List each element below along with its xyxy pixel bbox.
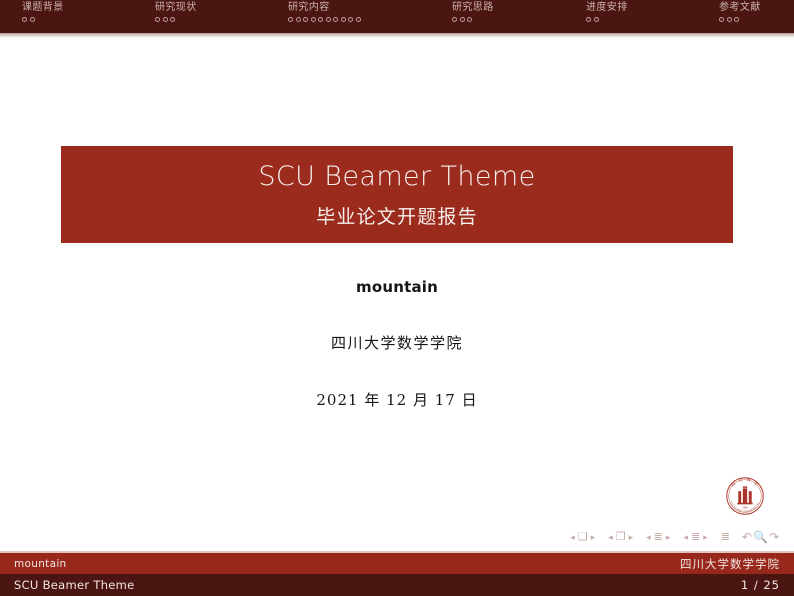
header-navigation-bar: 课题背景 研究现状 研究内容 研究思路 进度安排 参考文献 bbox=[0, 0, 794, 33]
presentation-date: 2021 年 12 月 17 日 bbox=[0, 389, 794, 410]
search-icon[interactable]: 🔍 bbox=[753, 531, 769, 543]
nav-slide-dot[interactable] bbox=[311, 17, 316, 22]
nav-slide-dot[interactable] bbox=[460, 17, 465, 22]
nav-slide-dot[interactable] bbox=[341, 17, 346, 22]
next-subsection-icon[interactable]: ▸ bbox=[666, 533, 671, 542]
nav-section-group[interactable]: ◂ ≣ ▸ bbox=[683, 532, 707, 543]
forward-icon[interactable]: ↷ bbox=[769, 531, 780, 543]
next-slide-icon[interactable]: ▸ bbox=[591, 533, 596, 542]
nav-slide-dot[interactable] bbox=[452, 17, 457, 22]
nav-section-dots[interactable] bbox=[452, 17, 494, 22]
frame-icon[interactable]: ❒ bbox=[616, 532, 626, 543]
footer-upper-bar: mountain 四川大学数学学院 bbox=[0, 553, 794, 574]
nav-slide-dot[interactable] bbox=[356, 17, 361, 22]
author-name: mountain bbox=[0, 278, 794, 296]
nav-slide-group[interactable]: ◂ ❑ ▸ bbox=[570, 532, 595, 543]
nav-section-dots[interactable] bbox=[288, 17, 361, 22]
footer-page-number: 1 / 25 bbox=[741, 578, 780, 592]
nav-slide-dot[interactable] bbox=[719, 17, 724, 22]
nav-section-4[interactable]: 进度安排 bbox=[586, 3, 628, 22]
nav-section-dots[interactable] bbox=[22, 17, 64, 22]
nav-slide-dot[interactable] bbox=[22, 17, 27, 22]
nav-slide-dot[interactable] bbox=[727, 17, 732, 22]
nav-section-label: 参考文献 bbox=[719, 3, 761, 13]
nav-subsection-group[interactable]: ◂ ≣ ▸ bbox=[646, 532, 670, 543]
footer-lower-bar: SCU Beamer Theme 1 / 25 bbox=[0, 574, 794, 596]
nav-slide-dot[interactable] bbox=[318, 17, 323, 22]
header-shadow-divider bbox=[0, 33, 794, 38]
next-section-icon[interactable]: ▸ bbox=[703, 533, 708, 542]
footer-institute: 四川大学数学学院 bbox=[680, 556, 780, 572]
subsection-icon[interactable]: ≣ bbox=[654, 532, 663, 543]
nav-slide-dot[interactable] bbox=[170, 17, 175, 22]
nav-section-label: 研究现状 bbox=[155, 3, 197, 13]
beamer-navigation-symbols[interactable]: ◂ ❑ ▸ ◂ ❒ ▸ ◂ ≣ ▸ ◂ ≣ ▸ ≣ ↶ 🔍 ↷ bbox=[508, 529, 780, 545]
footer-author: mountain bbox=[14, 558, 680, 570]
svg-text:四 川 大 学: 四 川 大 学 bbox=[730, 476, 761, 488]
nav-slide-dot[interactable] bbox=[333, 17, 338, 22]
nav-slide-dot[interactable] bbox=[30, 17, 35, 22]
institute-name: 四川大学数学学院 bbox=[0, 332, 794, 353]
next-frame-icon[interactable]: ▸ bbox=[629, 533, 634, 542]
presentation-icon[interactable]: ≣ bbox=[721, 532, 730, 543]
prev-subsection-icon[interactable]: ◂ bbox=[646, 533, 651, 542]
sichuan-university-logo-icon: 四 川 大 学 SICHUAN UNIVERSITY 1896 bbox=[721, 472, 769, 520]
nav-slide-dot[interactable] bbox=[734, 17, 739, 22]
nav-slide-dot[interactable] bbox=[303, 17, 308, 22]
prev-frame-icon[interactable]: ◂ bbox=[608, 533, 613, 542]
nav-slide-dot[interactable] bbox=[326, 17, 331, 22]
svg-text:1896: 1896 bbox=[742, 506, 748, 509]
section-icon[interactable]: ≣ bbox=[691, 532, 700, 543]
nav-slide-dot[interactable] bbox=[348, 17, 353, 22]
nav-section-dots[interactable] bbox=[155, 17, 197, 22]
nav-section-1[interactable]: 研究现状 bbox=[155, 3, 197, 22]
nav-section-dots[interactable] bbox=[586, 17, 628, 22]
nav-slide-dot[interactable] bbox=[155, 17, 160, 22]
prev-slide-icon[interactable]: ◂ bbox=[570, 533, 575, 542]
page-subtitle: 毕业论文开题报告 bbox=[316, 202, 478, 229]
nav-slide-dot[interactable] bbox=[586, 17, 591, 22]
page-title: SCU Beamer Theme bbox=[258, 162, 535, 192]
nav-section-2[interactable]: 研究内容 bbox=[288, 3, 361, 22]
title-block: SCU Beamer Theme 毕业论文开题报告 bbox=[61, 146, 733, 243]
nav-section-label: 研究内容 bbox=[288, 3, 361, 13]
nav-section-dots[interactable] bbox=[719, 17, 761, 22]
nav-frame-group[interactable]: ◂ ❒ ▸ bbox=[608, 532, 633, 543]
nav-section-5[interactable]: 参考文献 bbox=[719, 3, 761, 22]
nav-section-label: 课题背景 bbox=[22, 3, 64, 13]
nav-section-0[interactable]: 课题背景 bbox=[22, 3, 64, 22]
nav-slide-dot[interactable] bbox=[163, 17, 168, 22]
nav-slide-dot[interactable] bbox=[467, 17, 472, 22]
nav-slide-dot[interactable] bbox=[296, 17, 301, 22]
nav-section-label: 研究思路 bbox=[452, 3, 494, 13]
prev-section-icon[interactable]: ◂ bbox=[683, 533, 688, 542]
nav-section-3[interactable]: 研究思路 bbox=[452, 3, 494, 22]
nav-slide-dot[interactable] bbox=[594, 17, 599, 22]
footer-title: SCU Beamer Theme bbox=[14, 578, 741, 592]
nav-slide-dot[interactable] bbox=[288, 17, 293, 22]
nav-section-label: 进度安排 bbox=[586, 3, 628, 13]
slide-icon[interactable]: ❑ bbox=[578, 532, 588, 543]
back-icon[interactable]: ↶ bbox=[742, 531, 753, 543]
title-meta-block: mountain 四川大学数学学院 2021 年 12 月 17 日 bbox=[0, 278, 794, 410]
